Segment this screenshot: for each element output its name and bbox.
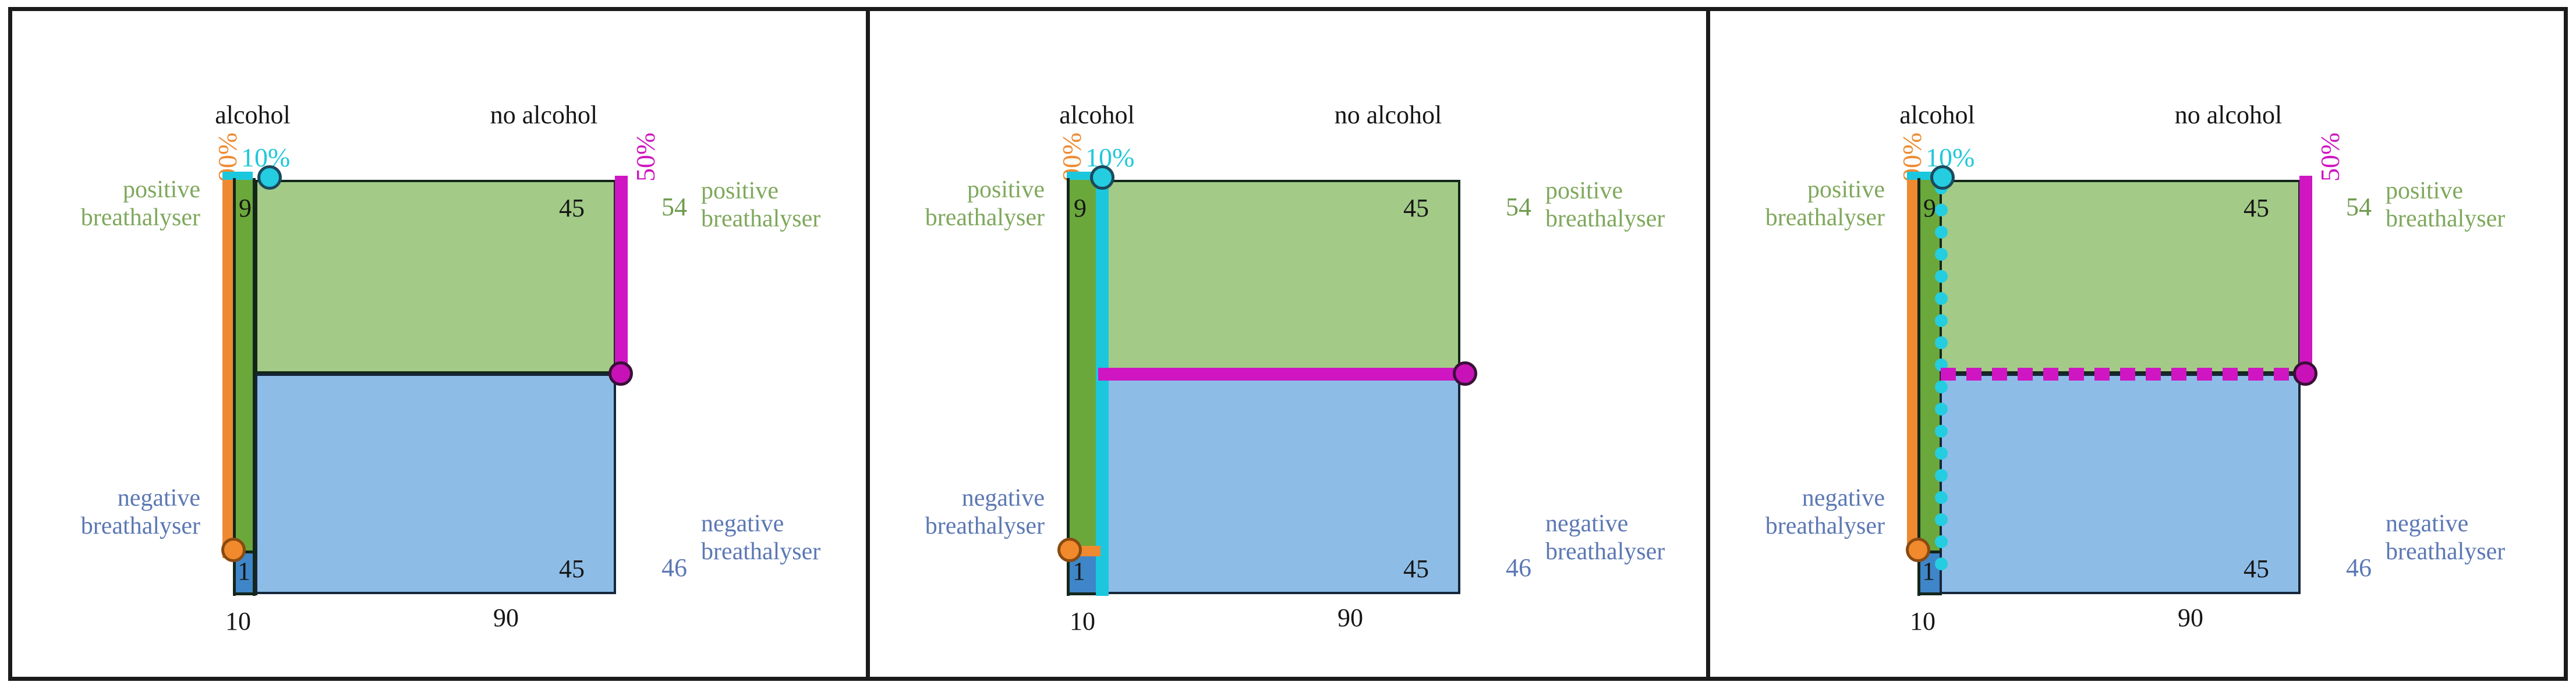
- row-label-left-negative-line1: negative: [870, 484, 1045, 513]
- alcohol-col-left-edge: [1917, 178, 1920, 596]
- cell-fp-value: 45: [1342, 193, 1429, 223]
- magenta-ppv-hline: [1098, 368, 1462, 381]
- cell-fp-value: 45: [497, 193, 585, 223]
- row-total-negative: 46: [2346, 553, 2372, 583]
- cell-fp-value: 45: [2182, 193, 2269, 223]
- panel-3: alcohol no alcohol 10% positive breathal…: [1710, 7, 2568, 681]
- row-total-positive: 54: [661, 192, 687, 222]
- col-header-alcohol: alcohol: [1039, 100, 1155, 130]
- col-total-no-alcohol: 90: [2153, 603, 2228, 633]
- pct-ppv-label: 50%: [2315, 133, 2346, 182]
- alcohol-positive-column: [1068, 180, 1099, 552]
- row-total-positive: 54: [2346, 192, 2372, 222]
- row-label-right-negative-line2: breathalyser: [701, 538, 820, 567]
- cell-tn-value: 45: [2182, 554, 2269, 584]
- row-label-right-positive-line1: positive: [1545, 177, 1623, 206]
- cell-tp-value: 9: [239, 193, 252, 223]
- row-label-right-negative-line1: negative: [701, 510, 784, 539]
- figure-canvas: alcohol no alcohol 10% positive breathal…: [0, 0, 2576, 689]
- row-label-right-positive-line2: breathalyser: [1545, 205, 1665, 234]
- col-total-alcohol: 10: [1885, 606, 1961, 637]
- row-label-right-positive-line1: positive: [2386, 177, 2463, 206]
- magenta-ppv-bar: [2299, 176, 2312, 377]
- panel-divider-2: [1706, 7, 1710, 681]
- alcohol-positive-column: [234, 180, 255, 552]
- cell-fn-value: 1: [238, 556, 250, 587]
- row-label-left-positive-line1: positive: [26, 176, 200, 205]
- marker-prevalence: [257, 165, 282, 190]
- row-label-right-negative-line2: breathalyser: [1545, 538, 1665, 567]
- col-header-no-alcohol: no alcohol: [2141, 100, 2316, 130]
- col-total-no-alcohol: 90: [1312, 603, 1388, 633]
- col-total-alcohol: 10: [1045, 606, 1120, 637]
- marker-ppv: [608, 361, 633, 386]
- marker-ppv: [2293, 361, 2317, 386]
- pct-ppv-label: 50%: [630, 133, 661, 182]
- magenta-ppv-bar: [615, 176, 628, 377]
- cyan-prevalence-dotted-vline: [1935, 182, 1948, 596]
- row-label-left-positive-line2: breathalyser: [14, 204, 200, 233]
- cell-tn-value: 45: [1342, 554, 1429, 584]
- col-total-alcohol: 10: [200, 606, 276, 637]
- row-label-right-positive-line1: positive: [701, 177, 779, 206]
- panel-divider-1: [866, 7, 870, 681]
- alcohol-col-left-edge: [1067, 178, 1070, 596]
- row-total-positive: 54: [1506, 192, 1531, 222]
- row-label-right-negative-line1: negative: [2386, 510, 2468, 539]
- marker-prevalence: [1090, 165, 1114, 190]
- row-label-right-negative-line1: negative: [1545, 510, 1628, 539]
- cell-fn-value: 1: [1073, 556, 1085, 587]
- row-label-right-positive-line2: breathalyser: [701, 205, 820, 234]
- cell-fn-value: 1: [1922, 556, 1935, 587]
- col-header-no-alcohol: no alcohol: [1301, 100, 1475, 130]
- row-label-left-positive-line2: breathalyser: [1699, 204, 1885, 233]
- panel-1: alcohol no alcohol 10% positive breathal…: [8, 7, 866, 681]
- col-header-alcohol: alcohol: [1879, 100, 1995, 130]
- row-label-left-negative-line2: breathalyser: [14, 512, 200, 541]
- row-total-negative: 46: [1506, 553, 1531, 583]
- panel-2: alcohol no alcohol 10% positive breathal…: [870, 7, 1706, 681]
- row-label-right-negative-line2: breathalyser: [2386, 538, 2505, 567]
- col-header-no-alcohol: no alcohol: [457, 100, 631, 130]
- row-label-left-negative-line2: breathalyser: [1699, 512, 1885, 541]
- cell-tp-value: 9: [1074, 193, 1087, 223]
- magenta-ppv-dotted-hline: [1941, 368, 2303, 381]
- row-label-left-negative-line2: breathalyser: [858, 512, 1045, 541]
- alcohol-col-right-edge: [253, 178, 256, 596]
- row-label-left-positive-line1: positive: [870, 176, 1045, 205]
- row-label-left-positive-line1: positive: [1710, 176, 1885, 205]
- marker-ppv: [1453, 361, 1477, 386]
- row-label-right-positive-line2: breathalyser: [2386, 205, 2505, 234]
- marker-prevalence: [1930, 165, 1955, 190]
- cell-tp-value: 9: [1923, 193, 1936, 223]
- col-header-alcohol: alcohol: [194, 100, 311, 130]
- row-label-left-positive-line2: breathalyser: [858, 204, 1045, 233]
- row-label-left-negative-line1: negative: [26, 484, 200, 513]
- cyan-prevalence-vline: [1096, 176, 1109, 596]
- row-total-negative: 46: [661, 553, 687, 583]
- cell-tn-value: 45: [497, 554, 585, 584]
- row-label-left-negative-line1: negative: [1710, 484, 1885, 513]
- col-total-no-alcohol: 90: [468, 603, 544, 633]
- alcohol-col-left-edge: [233, 178, 236, 553]
